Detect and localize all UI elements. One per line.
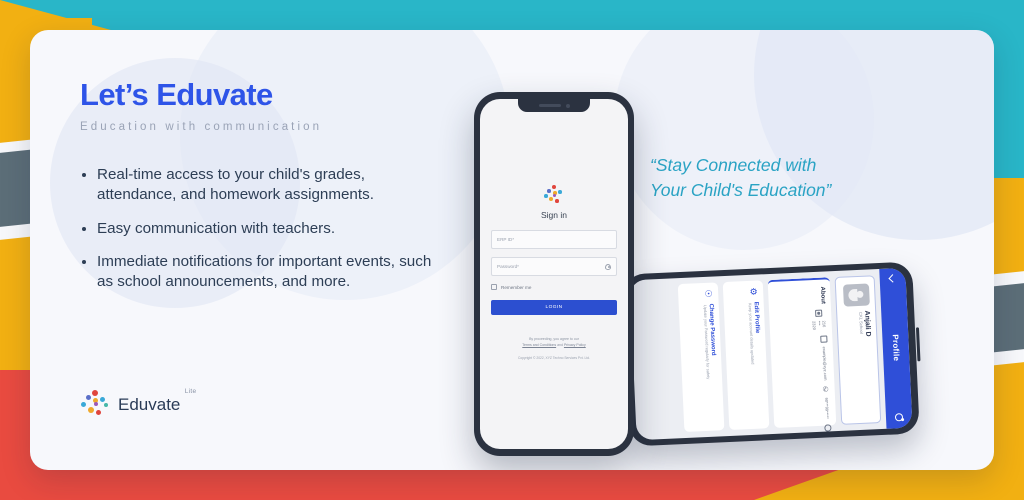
- legal-and: and: [557, 343, 563, 347]
- about-value: 90***99*****: [824, 397, 830, 419]
- camera-icon: [566, 104, 570, 108]
- user-summary-card[interactable]: Anjali D CKL School: [835, 275, 882, 425]
- privacy-link[interactable]: Privacy Policy: [564, 343, 586, 347]
- copyright-text: Copyright © 2022, XYZ Techno Services Pv…: [491, 356, 617, 360]
- login-screen: Sign in ERP ID* Password* Remember me LO…: [480, 99, 628, 449]
- appbar-title: Profile: [891, 334, 901, 361]
- eye-icon: [824, 425, 831, 432]
- user-name: Anjali D: [863, 310, 871, 336]
- copy-column: Let’s Eduvate Education with communicati…: [80, 78, 440, 305]
- feature-list: Real-time access to your child's grades,…: [80, 165, 440, 292]
- page-title: Let’s Eduvate: [80, 78, 440, 112]
- remember-me-row[interactable]: Remember me: [491, 284, 617, 290]
- about-row: example@xyz.com: [820, 336, 829, 381]
- change-password-card[interactable]: ☉ Change Password Update your Password r…: [678, 282, 725, 432]
- erp-id-input[interactable]: ERP ID*: [491, 230, 617, 249]
- avatar: [843, 283, 870, 306]
- list-item: Easy communication with teachers.: [80, 219, 440, 239]
- profile-body: Anjali D CKL School About 216 *** 2320 e…: [630, 269, 887, 440]
- legal-text: By proceeding, you agree to our Terms an…: [491, 337, 617, 349]
- avatar-head: [856, 291, 863, 298]
- logo-text-label: Eduvate: [118, 395, 180, 414]
- legal-prefix: By proceeding, you agree to our: [529, 337, 579, 341]
- login-form: Sign in ERP ID* Password* Remember me LO…: [480, 185, 628, 360]
- eduvate-dots-logo-icon: [80, 390, 110, 420]
- user-icon: [815, 310, 822, 317]
- about-row: M: [824, 425, 832, 440]
- profile-screen: Profile Anjali D CKL School About: [630, 268, 913, 440]
- tagline: “Stay Connected with Your Child's Educat…: [650, 153, 831, 202]
- about-row: 216 *** 2320: [811, 310, 827, 331]
- login-button[interactable]: LOGIN: [491, 300, 617, 315]
- about-row: 90***99*****: [823, 386, 831, 419]
- edit-profile-card[interactable]: ⚙ Edit Profile Keep your account details…: [723, 280, 770, 430]
- user-school: CKL School: [858, 312, 864, 337]
- edit-profile-text: Edit Profile Keep your account details u…: [729, 302, 762, 366]
- password-input[interactable]: Password*: [491, 257, 617, 276]
- list-item: Immediate notifications for important ev…: [80, 252, 440, 292]
- remember-me-label: Remember me: [501, 285, 531, 290]
- gear-icon[interactable]: [895, 413, 903, 421]
- user-identity: Anjali D CKL School: [842, 310, 871, 337]
- remember-me-checkbox[interactable]: [491, 284, 497, 290]
- about-value: M: [826, 436, 831, 440]
- about-title: About: [819, 286, 826, 304]
- mail-icon: [820, 336, 827, 343]
- logo-wordmark: Eduvate Lite: [118, 395, 180, 415]
- main-content-card: Let’s Eduvate Education with communicati…: [30, 30, 994, 470]
- list-item: Real-time access to your child's grades,…: [80, 165, 440, 205]
- terms-link[interactable]: Terms and Conditions: [522, 343, 556, 347]
- app-logo-icon: [544, 185, 564, 205]
- phone-mockup-profile: Profile Anjali D CKL School About: [622, 262, 920, 447]
- eduvate-logo: Eduvate Lite: [80, 390, 180, 420]
- phone-notch: [518, 99, 590, 112]
- page-subtitle: Education with communication: [80, 121, 440, 133]
- logo-superscript: Lite: [185, 388, 197, 395]
- about-card: About 216 *** 2320 example@xyz.com 90***…: [768, 277, 837, 428]
- change-password-text: Change Password Update your Password reg…: [684, 304, 717, 381]
- speaker-icon: [539, 104, 561, 107]
- eye-icon[interactable]: [605, 264, 611, 270]
- password-placeholder: Password*: [497, 264, 519, 269]
- edit-profile-icon: ⚙: [749, 288, 758, 297]
- phone-mockup-login: Sign in ERP ID* Password* Remember me LO…: [474, 92, 634, 456]
- chevron-left-icon[interactable]: [888, 274, 896, 282]
- phone-side-button: [916, 327, 921, 361]
- phone-icon: [823, 386, 830, 393]
- about-value: 216 *** 2320: [812, 321, 827, 331]
- erp-id-placeholder: ERP ID*: [497, 237, 514, 242]
- change-password-icon: ☉: [704, 290, 713, 299]
- about-value: example@xyz.com: [822, 347, 829, 381]
- signin-title: Sign in: [491, 210, 617, 220]
